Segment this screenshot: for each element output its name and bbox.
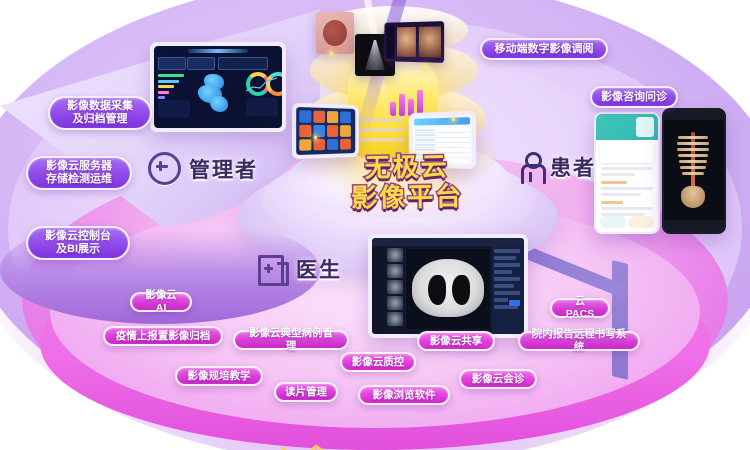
pill-image-cloud-consult[interactable]: 影像云会诊 xyxy=(459,369,537,389)
sparkle xyxy=(424,66,427,69)
person-icon xyxy=(520,152,542,182)
wedge-edge-vertical xyxy=(612,260,628,380)
sparkle xyxy=(330,52,333,55)
platform-title-line2: 影像平台 xyxy=(332,181,483,214)
mobile-app-tiles-screen xyxy=(292,103,359,160)
sparkle xyxy=(314,136,317,139)
pill-image-cloud-ai[interactable]: 影像云AI xyxy=(130,292,192,312)
pill-image-cloud-console[interactable]: 影像云控制台 及BI展示 xyxy=(26,226,130,260)
infographic-canvas: 管理者 患者 医生 无极云 影像平台 影像数据采集 及归档管理 影像云服务器 存… xyxy=(0,0,750,450)
imaging-workstation-thumbnail xyxy=(384,21,444,63)
pill-image-cloud-qc[interactable]: 影像云质控 xyxy=(340,352,416,372)
pill-image-consultation[interactable]: 影像咨询问诊 xyxy=(590,86,678,108)
role-manager[interactable]: 管理者 xyxy=(148,152,258,185)
pill-image-cloud-server[interactable]: 影像云服务器 存储检测运维 xyxy=(26,156,132,190)
role-patient[interactable]: 患者 xyxy=(520,152,596,182)
consult-phone-screen[interactable] xyxy=(594,112,660,234)
pill-in-hospital-report[interactable]: 院内报告远程书写系统 xyxy=(518,331,640,351)
pill-image-viewer-software[interactable]: 影像浏览软件 xyxy=(358,385,450,405)
pill-image-cloud-sharing[interactable]: 影像云共享 xyxy=(417,331,495,351)
role-doctor-label: 医生 xyxy=(296,254,342,284)
platform-title: 无极云 影像平台 xyxy=(331,151,482,214)
anatomy-phone-screen[interactable] xyxy=(662,108,726,234)
sparkle xyxy=(452,118,455,121)
pill-epidemic-report-archive[interactable]: 疫情上报置影像归档 xyxy=(103,326,223,346)
bar-chart-thumbnail xyxy=(390,86,430,116)
document-plus-icon xyxy=(258,255,288,283)
pill-standard-training[interactable]: 影像规培教学 xyxy=(175,366,263,386)
ct-viewer-screen[interactable] xyxy=(368,234,528,338)
endoscopy-thumbnail xyxy=(316,12,354,54)
pill-image-data-collection[interactable]: 影像数据采集 及归档管理 xyxy=(48,96,152,130)
platform-title-line1: 无极云 xyxy=(331,151,482,184)
role-doctor[interactable]: 医生 xyxy=(258,254,342,284)
pill-film-reading-management[interactable]: 读片管理 xyxy=(274,382,338,402)
role-manager-label: 管理者 xyxy=(189,154,258,184)
pill-mobile-image-retrieval[interactable]: 移动端数字影像调阅 xyxy=(480,38,608,60)
role-patient-label: 患者 xyxy=(550,152,596,182)
bi-dashboard-screen[interactable] xyxy=(150,42,286,132)
pill-cloud-pacs[interactable]: 云PACS xyxy=(550,298,610,318)
pill-typical-case-management[interactable]: 影像云典型病例管理 xyxy=(233,330,349,350)
circle-plus-icon xyxy=(148,152,181,185)
